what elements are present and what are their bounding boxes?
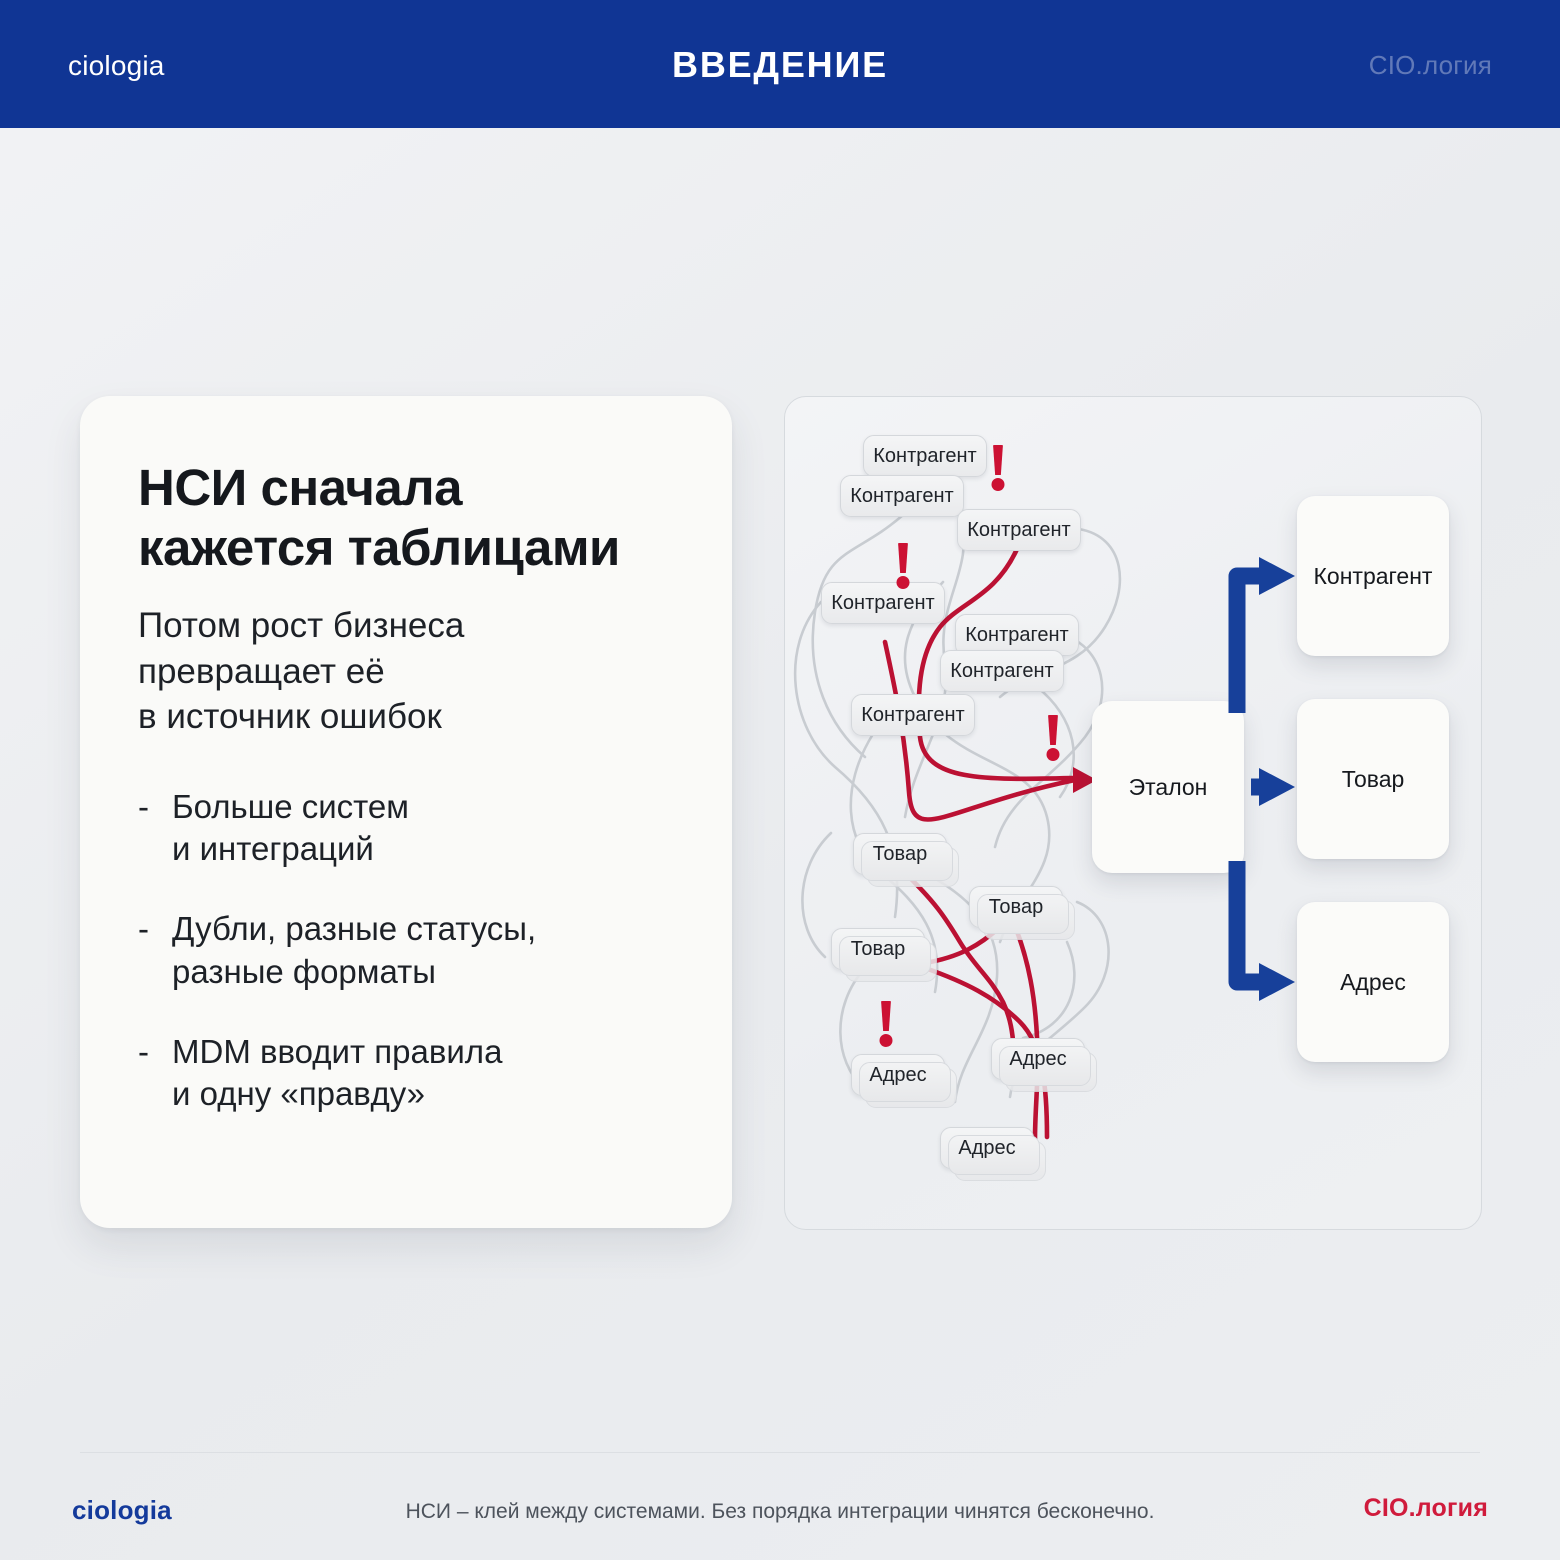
page-title: ВВЕДЕНИЕ bbox=[0, 44, 1560, 86]
bullet-text: Дубли, разные статусы, разные форматы bbox=[172, 908, 536, 992]
diagram-panel: Контрагент Контрагент Контрагент Контраг… bbox=[784, 396, 1482, 1230]
footer-brand-right: CIO.логия bbox=[1364, 1494, 1488, 1523]
content-card: НСИ сначала кажется таблицами Потом рост… bbox=[80, 396, 732, 1228]
slide-root: ciologia ВВЕДЕНИЕ CIO.логия НСИ сначала … bbox=[0, 0, 1560, 1560]
footer-divider bbox=[80, 1452, 1480, 1453]
card-subtitle: Потом рост бизнеса превращает её в источ… bbox=[138, 603, 690, 740]
bullet-text: Больше систем и интеграций bbox=[172, 786, 409, 870]
list-item: - Дубли, разные статусы, разные форматы bbox=[138, 908, 690, 992]
list-item: - MDM вводит правила и одну «правду» bbox=[138, 1031, 690, 1115]
header-brand-right: CIO.логия bbox=[1369, 50, 1492, 81]
list-item: - Больше систем и интеграций bbox=[138, 786, 690, 870]
bullet-list: - Больше систем и интеграций - Дубли, ра… bbox=[138, 786, 690, 1115]
card-title: НСИ сначала кажется таблицами bbox=[138, 458, 690, 577]
bullet-dash-icon: - bbox=[138, 908, 172, 950]
bullet-dash-icon: - bbox=[138, 786, 172, 828]
slide-header: ciologia ВВЕДЕНИЕ CIO.логия bbox=[0, 0, 1560, 128]
bullet-text: MDM вводит правила и одну «правду» bbox=[172, 1031, 502, 1115]
footer-tagline: НСИ – клей между системами. Без порядка … bbox=[0, 1500, 1560, 1524]
flow-arrows bbox=[785, 397, 1481, 1229]
card-body: НСИ сначала кажется таблицами Потом рост… bbox=[138, 458, 690, 1115]
bullet-dash-icon: - bbox=[138, 1031, 172, 1073]
